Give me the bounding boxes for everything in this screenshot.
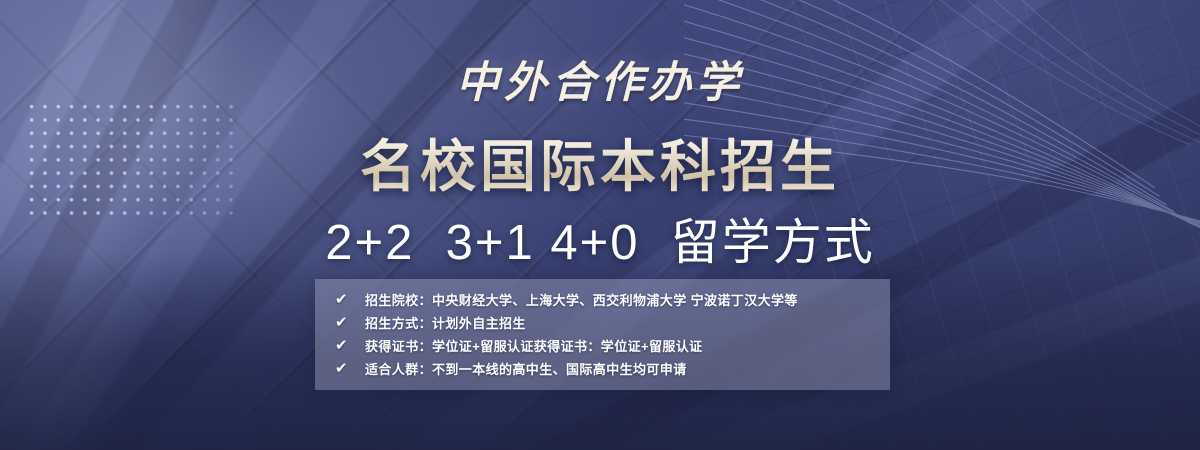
banner-subline: 2+2 3+1 4+0 留学方式 bbox=[0, 203, 1200, 274]
feature-text: 适合人群：不到一本线的高中生、国际高中生均可申请 bbox=[365, 359, 687, 378]
feature-text: 招生院校：中央财经大学、上海大学、西交利物浦大学 宁波诺丁汉大学等 bbox=[365, 290, 798, 309]
check-icon: ✔ bbox=[335, 361, 365, 376]
banner-kicker: 中外合作办学 bbox=[0, 48, 1200, 110]
list-item: ✔ 获得证书：学位证+留服认证获得证书：学位证+留服认证 bbox=[315, 334, 890, 357]
feature-text: 招生方式：计划外自主招生 bbox=[365, 313, 526, 332]
banner-headline: 名校国际本科招生 bbox=[0, 122, 1200, 203]
list-item: ✔ 适合人群：不到一本线的高中生、国际高中生均可申请 bbox=[315, 357, 890, 380]
list-item: ✔ 招生院校：中央财经大学、上海大学、西交利物浦大学 宁波诺丁汉大学等 bbox=[315, 288, 890, 311]
feature-list: ✔ 招生院校：中央财经大学、上海大学、西交利物浦大学 宁波诺丁汉大学等 ✔ 招生… bbox=[315, 279, 890, 380]
check-icon: ✔ bbox=[335, 292, 365, 307]
promo-banner: 中外合作办学 名校国际本科招生 2+2 3+1 4+0 留学方式 ✔ 招生院校：… bbox=[0, 0, 1200, 450]
check-icon: ✔ bbox=[335, 315, 365, 330]
feature-panel: ✔ 招生院校：中央财经大学、上海大学、西交利物浦大学 宁波诺丁汉大学等 ✔ 招生… bbox=[315, 279, 890, 390]
check-icon: ✔ bbox=[335, 338, 365, 353]
banner-content: 中外合作办学 名校国际本科招生 2+2 3+1 4+0 留学方式 ✔ 招生院校：… bbox=[0, 0, 1200, 450]
list-item: ✔ 招生方式：计划外自主招生 bbox=[315, 311, 890, 334]
feature-text: 获得证书：学位证+留服认证获得证书：学位证+留服认证 bbox=[365, 336, 703, 355]
